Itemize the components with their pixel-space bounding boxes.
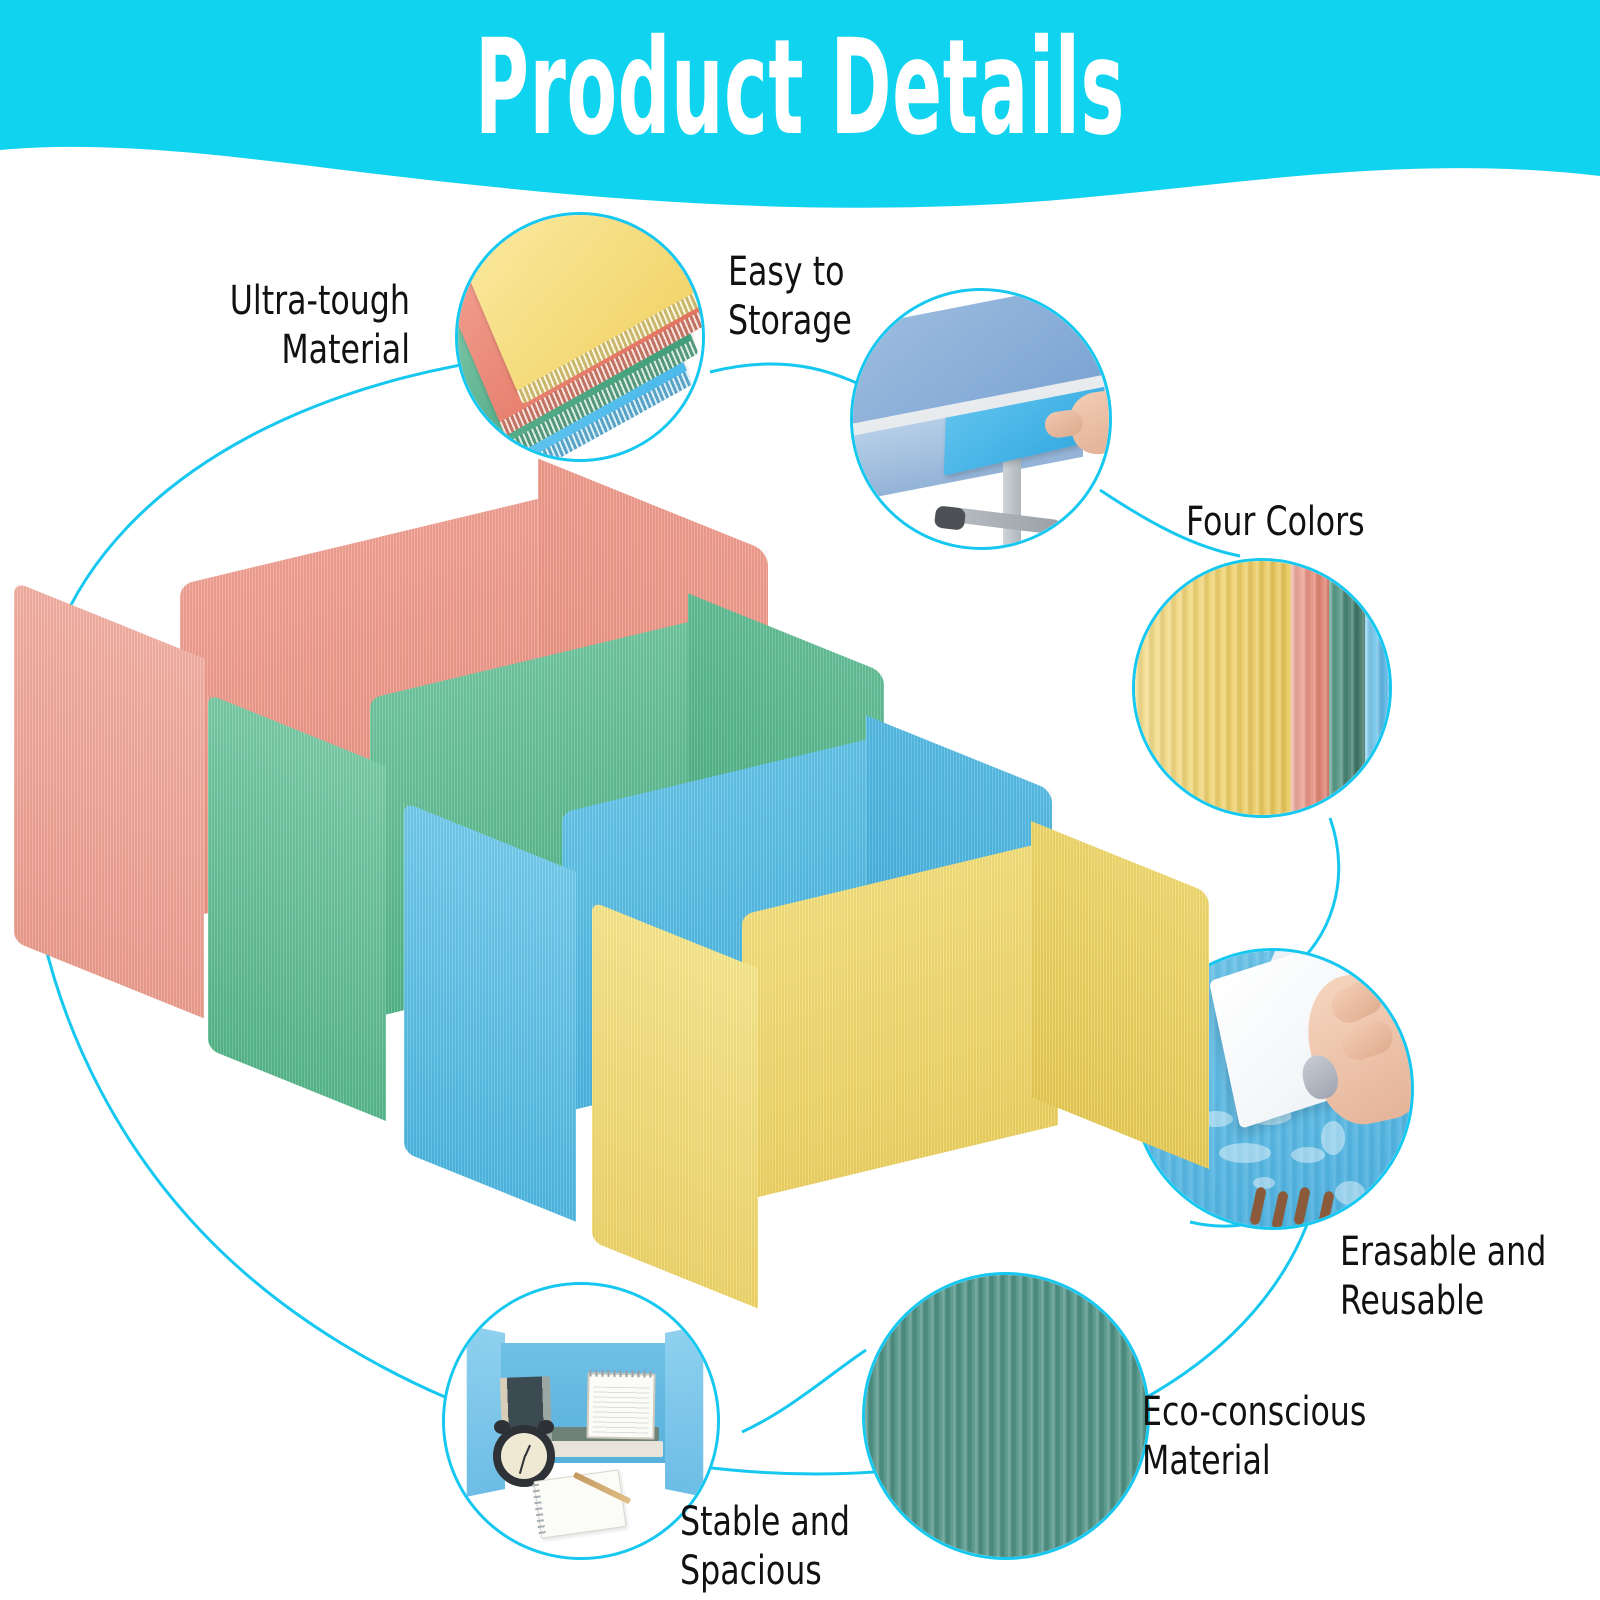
shield-pink-left-panel <box>14 582 204 1019</box>
infographic-canvas: Product Details <box>0 0 1600 1600</box>
callout-label-erasable-and-reusable: Erasable and Reusable <box>1340 1228 1569 1326</box>
shield-green-left-panel <box>208 694 386 1121</box>
link-eco-to-loop <box>742 1350 866 1432</box>
callout-label-easy-to-storage: Easy to Storage <box>728 248 957 346</box>
page-title: Product Details <box>304 22 1296 154</box>
shield-yellow-left-panel <box>592 901 758 1308</box>
callout-image-ultra-tough-material <box>455 212 705 462</box>
stripe-blue <box>1365 561 1389 815</box>
shield-panel-right <box>665 1325 703 1496</box>
stripe-green <box>1329 561 1365 815</box>
alarm-clock <box>493 1425 555 1487</box>
desk-calendar <box>586 1372 655 1439</box>
callout-image-four-colors <box>1132 558 1392 818</box>
callout-label-four-colors: Four Colors <box>1186 498 1432 547</box>
callout-label-stable-and-spacious: Stable and Spacious <box>680 1498 909 1596</box>
stripe-yellow <box>1135 561 1291 815</box>
book-stack-bottom <box>537 1441 663 1457</box>
shield-blue-left-panel <box>404 802 576 1221</box>
link-colors-to-erase <box>1290 818 1339 970</box>
callout-image-stable-and-spacious <box>442 1282 720 1560</box>
product-photo-privacy-shields <box>0 505 1120 1250</box>
header-banner: Product Details <box>0 0 1600 230</box>
stripe-pink <box>1291 561 1329 815</box>
callout-label-eco-conscious-material: Eco-conscious Material <box>1142 1388 1406 1486</box>
callout-label-ultra-tough-material: Ultra-tough Material <box>199 277 410 375</box>
